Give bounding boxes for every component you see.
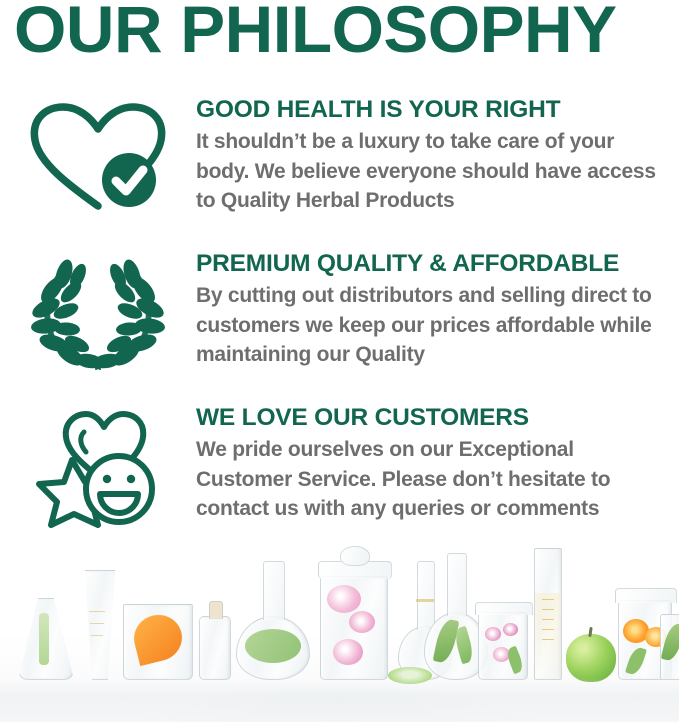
- feature-text-cell: WE LOVE OUR CUSTOMERS We pride ourselves…: [196, 404, 679, 524]
- feature-row-good-health: GOOD HEALTH IS YOUR RIGHT It shouldn’t b…: [0, 96, 679, 219]
- feature-icon-cell: [0, 404, 196, 533]
- feature-text-cell: GOOD HEALTH IS YOUR RIGHT It shouldn’t b…: [196, 96, 679, 216]
- feature-body: We pride ourselves on our Exceptional Cu…: [196, 435, 658, 524]
- beaker-with-orange-slice: [123, 604, 193, 680]
- feature-row-premium-quality: PREMIUM QUALITY & AFFORDABLE By cutting …: [0, 250, 679, 375]
- surface-reflection: [0, 678, 679, 722]
- feature-heading: WE LOVE OUR CUSTOMERS: [196, 404, 669, 431]
- green-apple: [566, 634, 616, 682]
- feature-body: It shouldn’t be a luxury to take care of…: [196, 127, 658, 216]
- philosophy-infographic: OUR PHILOSOPHY GOOD HEALTH IS YOUR RIGHT…: [0, 0, 679, 722]
- heart-check-icon: [23, 102, 173, 219]
- jar-with-pink-flowers: [478, 612, 528, 680]
- feature-body: By cutting out distributors and selling …: [196, 281, 658, 370]
- feature-icon-cell: [0, 96, 196, 219]
- dropper-bottle: [199, 616, 231, 680]
- vessel-with-green-leaves: [660, 614, 679, 680]
- page-title: OUR PHILOSOPHY: [14, 0, 679, 64]
- heart-star-smiley-icon: [28, 410, 168, 533]
- feature-row-we-love-customers: WE LOVE OUR CUSTOMERS We pride ourselves…: [0, 404, 679, 533]
- feature-icon-cell: [0, 250, 196, 375]
- laurel-wreath-icon: [26, 256, 170, 375]
- feature-heading: PREMIUM QUALITY & AFFORDABLE: [196, 250, 669, 277]
- glassware-photo-band: [0, 536, 679, 722]
- feature-text-cell: PREMIUM QUALITY & AFFORDABLE By cutting …: [196, 250, 679, 370]
- feature-heading: GOOD HEALTH IS YOUR RIGHT: [196, 96, 669, 123]
- orange-slice: [129, 610, 187, 666]
- tall-graduated-cylinder: [534, 548, 562, 680]
- apothecary-jar-with-pink-orchids: [320, 576, 388, 680]
